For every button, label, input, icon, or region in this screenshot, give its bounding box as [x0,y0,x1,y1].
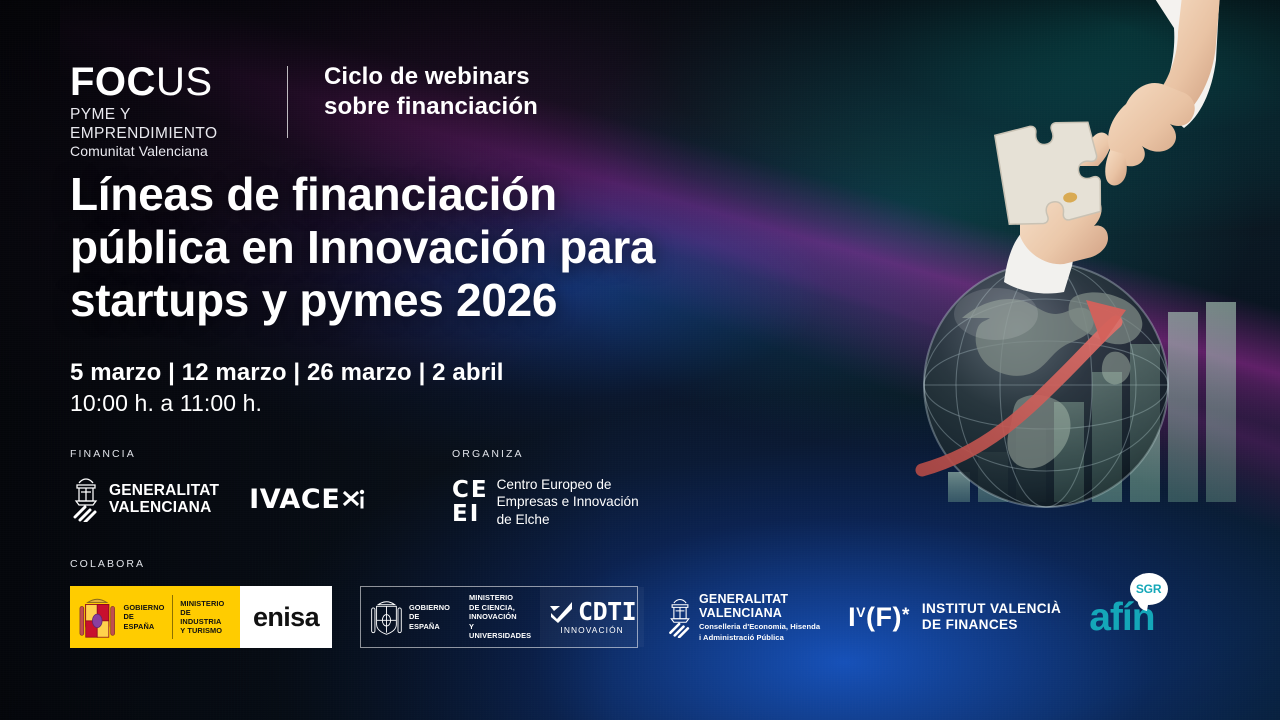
ivace-logo: IVACE [249,484,376,515]
upper-hand-graphic [1105,0,1220,185]
ceei-char-i: I [470,504,478,524]
spain-coat-of-arms-outline-icon [370,595,403,639]
generalitat-valenciana-logo: GENERALITAT VALENCIANA [70,476,219,522]
cdti-gob-line-2: DE ESPAÑA [409,612,451,631]
generalitat-emblem-small-icon [666,596,694,638]
enisa-min-line-1: MINISTERIO [180,599,232,608]
gva-small-line-2: VALENCIANA [699,606,820,620]
organiza-section: ORGANIZA C E E I Centro Europeo de Empre… [452,448,639,528]
session-dates: 5 marzo | 12 marzo | 26 marzo | 2 abril [70,358,504,388]
hero-artwork [890,0,1280,520]
cdti-gob-line-1: GOBIERNO [409,603,451,612]
colabora-section: COLABORA [70,558,1155,648]
lockup-divider [287,66,288,138]
cdti-gobierno-block: GOBIERNO DE ESPAÑA [361,587,460,647]
cdti-gobierno-text: GOBIERNO DE ESPAÑA [409,603,451,631]
ivf-char-f: F [875,604,892,631]
cdti-ministerio-block: MINISTERIO DE CIENCIA, INNOVACIÓN Y UNIV… [460,587,540,647]
gva-conselleria-line-2: i Administració Pública [699,633,820,642]
ivf-char-v: V [856,605,866,619]
gva-line-2: VALENCIANA [109,499,219,517]
ceei-wordmark: Centro Europeo de Empresas e Innovación … [497,476,639,528]
organiza-label: ORGANIZA [452,448,639,460]
cdti-min-line-3: Y UNIVERSIDADES [469,622,531,641]
ceei-text-line-1: Centro Europeo de [497,476,639,493]
enisa-gob-line-2: DE ESPAÑA [123,612,165,630]
ceei-char-e1: E [471,480,486,500]
enisa-wordmark-block: enisa [240,586,332,648]
enisa-wordmark: enisa [253,602,319,633]
enisa-min-line-3: Y TURISMO [180,626,232,635]
gva-conselleria-line-1: Conselleria d'Economia, Hisenda [699,622,820,631]
financia-logo-row: GENERALITAT VALENCIANA IVACE [70,476,376,522]
ivf-text-line-1: INSTITUT VALENCIÀ [922,601,1061,618]
generalitat-emblem-icon [70,476,102,522]
enisa-divider [172,595,173,639]
enisa-gobierno-block: GOBIERNO DE ESPAÑA MINISTERIO DE INDUSTR… [70,586,240,648]
ivf-wordmark: INSTITUT VALENCIÀ DE FINANCES [922,601,1061,634]
financia-section: FINANCIA [70,448,376,522]
webinar-promo-banner: FOCUS PYME Y EMPRENDIMIENTO Comunitat Va… [0,0,1280,720]
generalitat-conselleria-wordmark: GENERALITAT VALENCIANA Conselleria d'Eco… [699,592,820,643]
ceei-char-c: C [452,480,468,500]
title-line-1: Líneas de financiación [70,168,790,221]
colabora-label: COLABORA [70,558,1155,570]
focus-wordmark-light: US [156,60,213,104]
enisa-gobierno-text: GOBIERNO DE ESPAÑA [123,603,165,631]
financia-label: FINANCIA [70,448,376,460]
cdti-brand-main: CDTI [548,599,636,624]
ivf-monogram: IV(F)* [848,604,910,631]
session-time: 10:00 h. a 11:00 h. [70,388,504,418]
ivf-paren-open: ( [866,604,876,631]
cdti-min-line-2: DE CIENCIA, INNOVACIÓN [469,603,531,622]
ceei-logo: C E E I Centro Europeo de Empresas e Inn… [452,476,639,528]
ivace-wordmark: IVACE [249,484,340,515]
ceei-monogram-top: C E [452,480,486,500]
cdti-wordmark: CDTI [578,599,636,624]
series-line-1: Ciclo de webinars [324,62,538,92]
cdti-min-line-1: MINISTERIO [469,593,531,602]
focus-logo: FOCUS PYME Y EMPRENDIMIENTO Comunitat Va… [70,62,265,160]
focus-wordmark-bold: FOC [70,60,156,104]
focus-wordmark: FOCUS [70,62,265,102]
focus-tagline-line1: PYME Y EMPRENDIMIENTO [70,105,265,143]
brand-lockup: FOCUS PYME Y EMPRENDIMIENTO Comunitat Va… [70,62,538,160]
cdti-checkmark-icon [548,600,574,624]
enisa-gob-line-1: GOBIERNO [123,603,165,612]
afin-speech-bubble-icon: SGR [1130,573,1168,605]
title-line-3: startups y pymes 2026 [70,274,790,327]
afin-sgr-logo: afín SGR [1089,598,1154,637]
webinar-series-label: Ciclo de webinars sobre financiación [324,62,538,122]
colabora-logo-row: GOBIERNO DE ESPAÑA MINISTERIO DE INDUSTR… [70,586,1155,648]
gva-small-line-1: GENERALITAT [699,592,820,606]
gva-line-1: GENERALITAT [109,482,219,500]
enisa-min-line-2: DE INDUSTRIA [180,608,232,626]
enisa-ministerio-text: MINISTERIO DE INDUSTRIA Y TURISMO [180,599,232,636]
cdti-brand-block: CDTI INNOVACIÓN [540,587,644,647]
focus-tagline-line2: Comunitat Valenciana [70,143,265,160]
series-line-2: sobre financiación [324,92,538,122]
ceei-text-line-2: Empresas e Innovación [497,493,639,510]
ceei-char-e2: E [452,504,467,524]
ceei-monogram-bottom: E I [452,504,486,524]
afin-sgr-badge: SGR [1136,582,1161,596]
page-title: Líneas de financiación pública en Innova… [70,168,790,327]
title-line-2: pública en Innovación para [70,221,790,274]
enisa-logo: GOBIERNO DE ESPAÑA MINISTERIO DE INDUSTR… [70,586,332,648]
generalitat-wordmark: GENERALITAT VALENCIANA [109,482,219,517]
schedule-block: 5 marzo | 12 marzo | 26 marzo | 2 abril … [70,358,504,418]
generalitat-conselleria-logo: GENERALITAT VALENCIANA Conselleria d'Eco… [666,592,820,643]
ivf-text-line-2: DE FINANCES [922,617,1061,634]
ivf-char-i: I [848,604,856,631]
ceei-monogram: C E E I [452,480,486,524]
cdti-ministerio-text: MINISTERIO DE CIENCIA, INNOVACIÓN Y UNIV… [469,593,531,640]
ivf-star-icon: * [902,602,910,629]
ceei-text-line-3: de Elche [497,511,639,528]
ivf-logo: IV(F)* INSTITUT VALENCIÀ DE FINANCES [848,601,1061,634]
ivf-paren-close: ) [892,604,902,631]
cdti-logo: GOBIERNO DE ESPAÑA MINISTERIO DE CIENCIA… [360,586,638,648]
ivace-plus-i-icon [342,485,376,513]
cdti-subword: INNOVACIÓN [560,625,623,635]
spain-coat-of-arms-icon [78,592,116,642]
